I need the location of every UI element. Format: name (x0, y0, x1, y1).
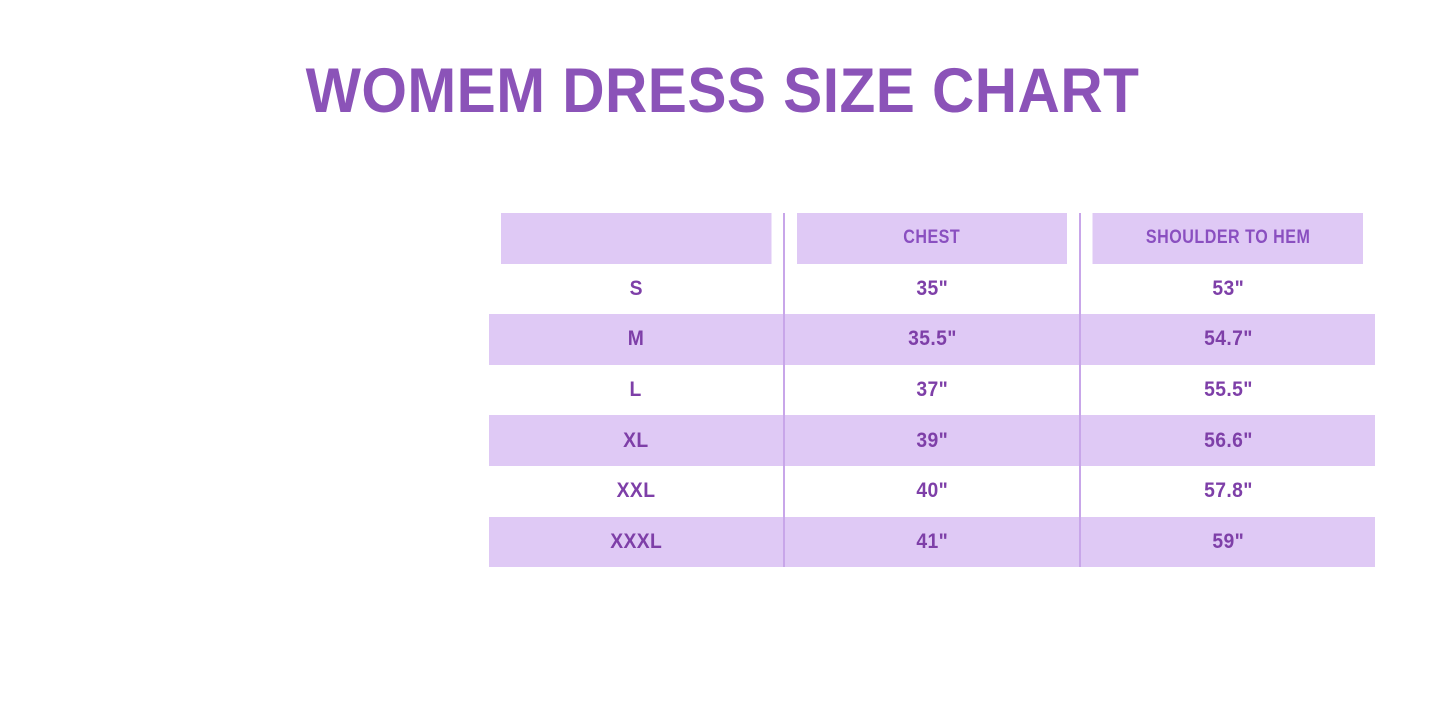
cell-size: XL (489, 415, 784, 466)
table-row: S 35" 53" (489, 264, 1375, 315)
cell-shoulder-to-hem: 59" (1080, 517, 1375, 568)
table-row: XXXL 41" 59" (489, 517, 1375, 568)
chest-value: 37" (916, 378, 948, 402)
cell-chest: 39" (784, 415, 1080, 466)
table-header: CHEST SHOULDER TO HEM (489, 213, 1375, 264)
cell-chest: 35.5" (784, 314, 1080, 365)
chest-value: 35" (916, 277, 948, 301)
cell-shoulder-to-hem: 55.5" (1080, 365, 1375, 416)
size-label: XXXL (610, 530, 662, 554)
size-label: M (628, 327, 644, 351)
chest-value: 40" (916, 479, 948, 503)
chest-value: 39" (916, 429, 948, 453)
cell-shoulder-to-hem: 56.6" (1080, 415, 1375, 466)
size-chart-table: CHEST SHOULDER TO HEM S 35" 53" (489, 213, 1375, 567)
table-row: XXL 40" 57.8" (489, 466, 1375, 517)
cell-shoulder-to-hem: 54.7" (1080, 314, 1375, 365)
shoulder-to-hem-value: 57.8" (1204, 479, 1253, 503)
size-label: XXL (617, 479, 656, 503)
cell-chest: 40" (784, 466, 1080, 517)
cell-size: L (489, 365, 784, 416)
table-body: S 35" 53" M 35.5" 54.7" (489, 264, 1375, 568)
size-label: S (629, 277, 642, 301)
cell-chest: 37" (784, 365, 1080, 416)
cell-size: XXL (489, 466, 784, 517)
column-header-shoulder-to-hem-label: SHOULDER TO HEM (1146, 227, 1311, 249)
column-header-chest: CHEST (796, 213, 1068, 264)
column-header-shoulder-to-hem: SHOULDER TO HEM (1092, 213, 1363, 264)
column-header-chest-label: CHEST (903, 227, 960, 249)
chest-value: 41" (916, 530, 948, 554)
cell-chest: 35" (784, 264, 1080, 315)
column-header-size (501, 213, 772, 264)
cell-shoulder-to-hem: 57.8" (1080, 466, 1375, 517)
cell-size: XXXL (489, 517, 784, 568)
size-label: L (630, 378, 642, 402)
shoulder-to-hem-value: 53" (1212, 277, 1244, 301)
shoulder-to-hem-value: 54.7" (1204, 327, 1253, 351)
chest-value: 35.5" (908, 327, 957, 351)
table-header-row: CHEST SHOULDER TO HEM (489, 213, 1375, 264)
size-chart-page: WOMEM DRESS SIZE CHART CHEST SHOULDER TO… (0, 0, 1445, 723)
size-label: XL (623, 429, 648, 453)
shoulder-to-hem-value: 59" (1212, 530, 1244, 554)
page-title: WOMEM DRESS SIZE CHART (51, 55, 1395, 127)
table-row: M 35.5" 54.7" (489, 314, 1375, 365)
shoulder-to-hem-value: 55.5" (1204, 378, 1253, 402)
cell-chest: 41" (784, 517, 1080, 568)
shoulder-to-hem-value: 56.6" (1204, 429, 1253, 453)
cell-size: M (489, 314, 784, 365)
table-row: XL 39" 56.6" (489, 415, 1375, 466)
cell-shoulder-to-hem: 53" (1080, 264, 1375, 315)
table-row: L 37" 55.5" (489, 365, 1375, 416)
cell-size: S (489, 264, 784, 315)
